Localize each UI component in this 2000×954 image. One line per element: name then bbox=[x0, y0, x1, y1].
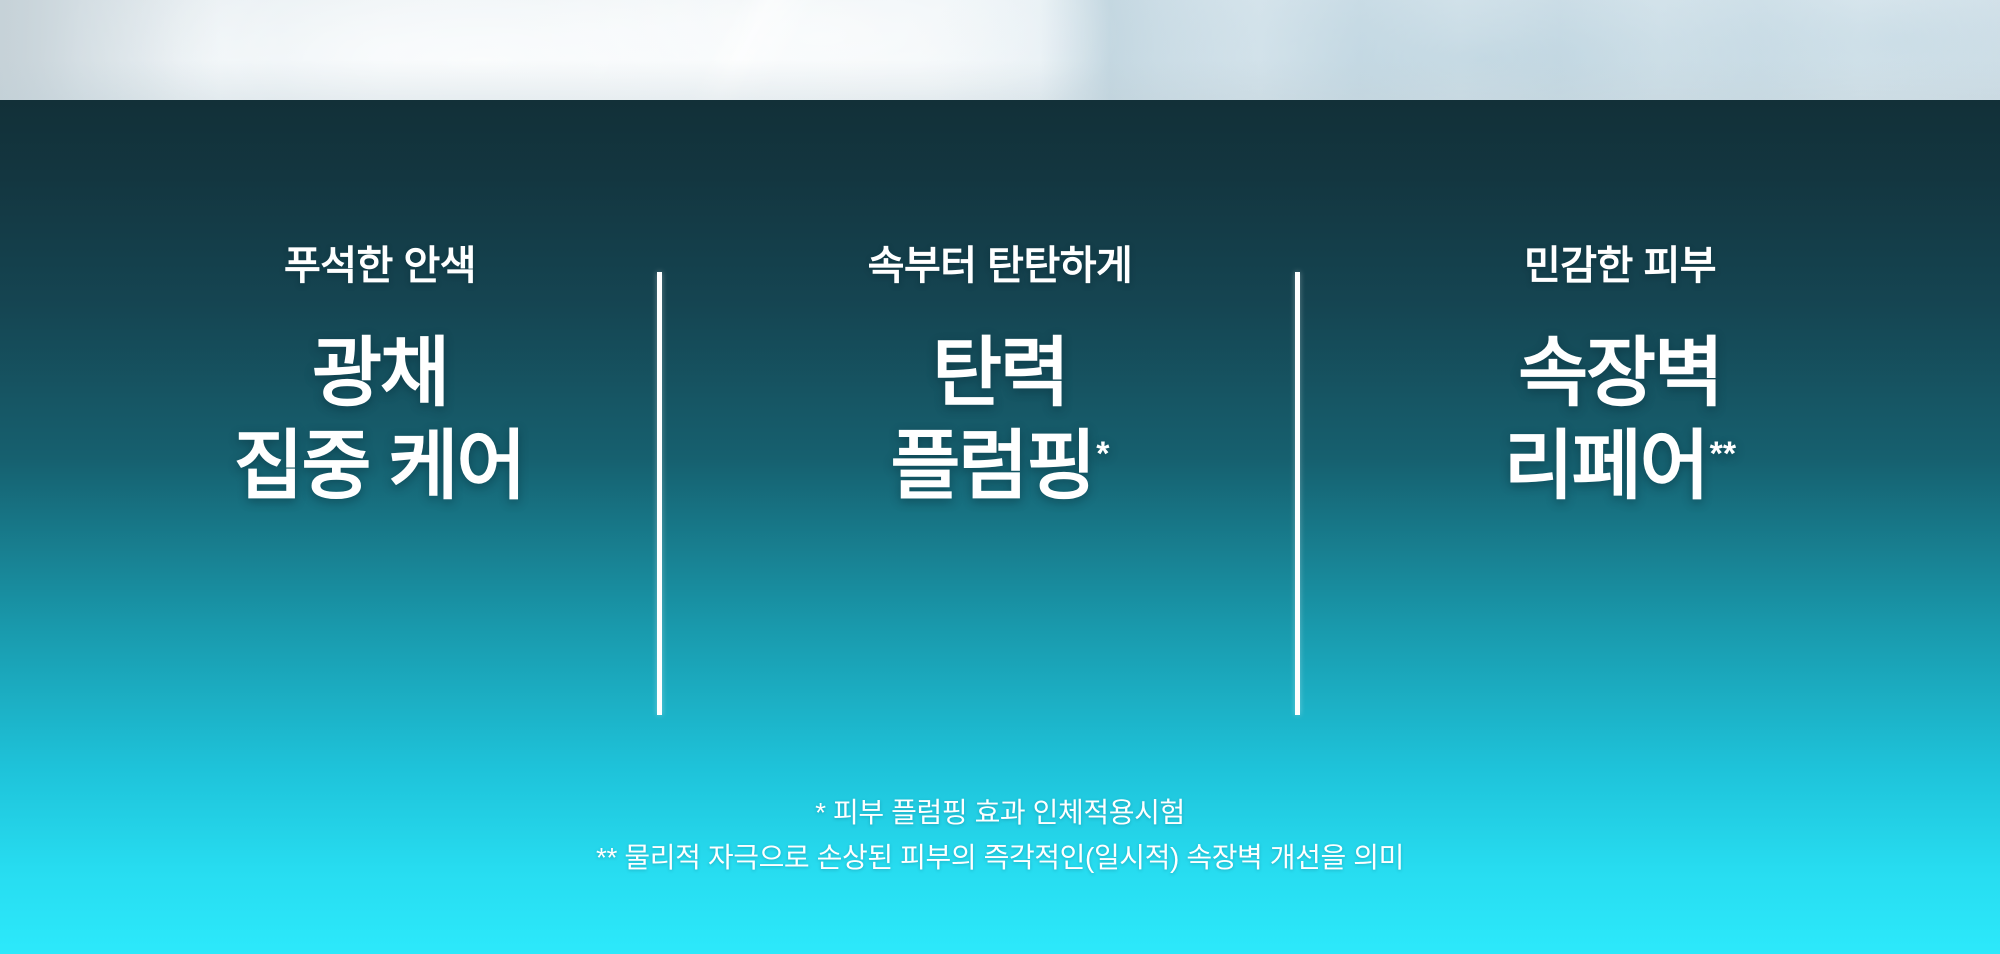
benefit-headline-3: 속장벽 리페어** bbox=[1504, 328, 1736, 513]
footnote-double-asterisk: ** 물리적 자극으로 손상된 피부의 즉각적인(일시적) 속장벽 개선을 의미 bbox=[0, 835, 2000, 880]
benefit-headline-2-line-2: 플럼핑* bbox=[891, 421, 1110, 514]
photo-bottom-shade bbox=[0, 0, 2000, 100]
benefit-footnote-mark-2: * bbox=[1096, 435, 1109, 473]
skincare-benefits-banner: 푸석한 안색 광채 집중 케어 속부터 탄탄하게 탄력 플럼핑* 민감한 피부 … bbox=[0, 0, 2000, 954]
benefit-headline-1-line-2: 집중 케어 bbox=[234, 421, 527, 514]
benefit-headline-3-line-1: 속장벽 bbox=[1504, 328, 1736, 421]
hero-photo-band bbox=[0, 0, 2000, 100]
benefit-footnote-mark-3: ** bbox=[1710, 435, 1736, 473]
footnote-single-asterisk: * 피부 플럼핑 효과 인체적용시험 bbox=[0, 790, 2000, 835]
benefit-eyebrow-3: 민감한 피부 bbox=[1524, 242, 1716, 290]
benefit-column-1: 푸석한 안색 광채 집중 케어 bbox=[70, 232, 690, 513]
benefit-eyebrow-2: 속부터 탄탄하게 bbox=[868, 242, 1133, 290]
benefit-column-3: 민감한 피부 속장벽 리페어** bbox=[1310, 232, 1930, 513]
benefit-headline-2-line-2-text: 플럼핑 bbox=[891, 424, 1095, 509]
benefit-headline-2: 탄력 플럼핑* bbox=[891, 328, 1110, 513]
benefit-column-2: 속부터 탄탄하게 탄력 플럼핑* bbox=[690, 232, 1310, 513]
benefit-columns: 푸석한 안색 광채 집중 케어 속부터 탄탄하게 탄력 플럼핑* 민감한 피부 … bbox=[0, 232, 2000, 732]
benefit-eyebrow-1: 푸석한 안색 bbox=[284, 242, 476, 290]
benefit-headline-1-line-2-text: 집중 케어 bbox=[234, 424, 525, 509]
benefit-headline-3-line-2-text: 리페어 bbox=[1504, 424, 1708, 509]
benefit-headline-1-line-1: 광채 bbox=[234, 328, 527, 421]
footnote-block: * 피부 플럼핑 효과 인체적용시험 ** 물리적 자극으로 손상된 피부의 즉… bbox=[0, 790, 2000, 881]
benefit-headline-2-line-1: 탄력 bbox=[891, 328, 1110, 421]
benefit-headline-3-line-2: 리페어** bbox=[1504, 421, 1736, 514]
benefit-headline-1: 광채 집중 케어 bbox=[234, 328, 527, 513]
